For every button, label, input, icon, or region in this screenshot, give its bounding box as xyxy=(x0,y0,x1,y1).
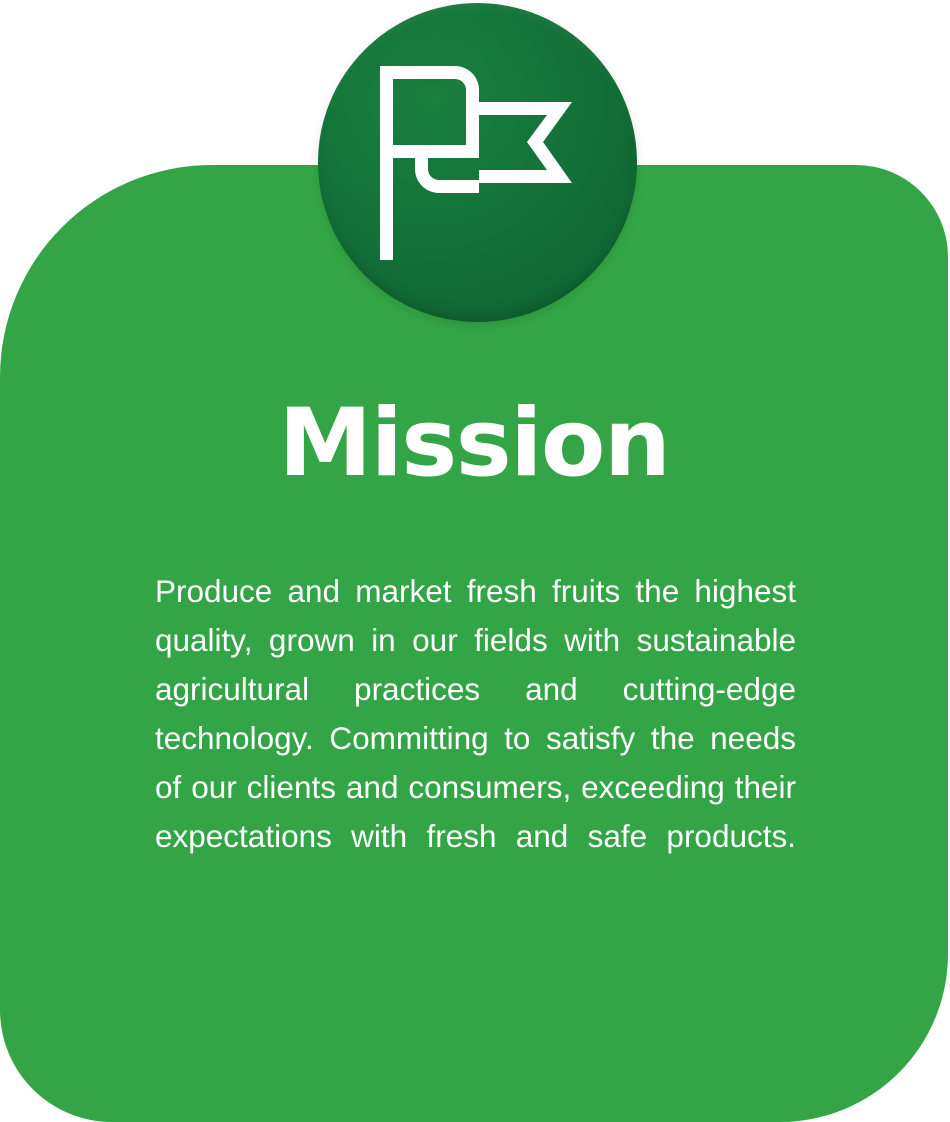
mission-body-text: Produce and market fresh fruits the high… xyxy=(155,567,796,910)
mission-icon-badge xyxy=(318,3,637,322)
flag-icon xyxy=(373,58,583,268)
page-title: Mission xyxy=(0,397,948,491)
